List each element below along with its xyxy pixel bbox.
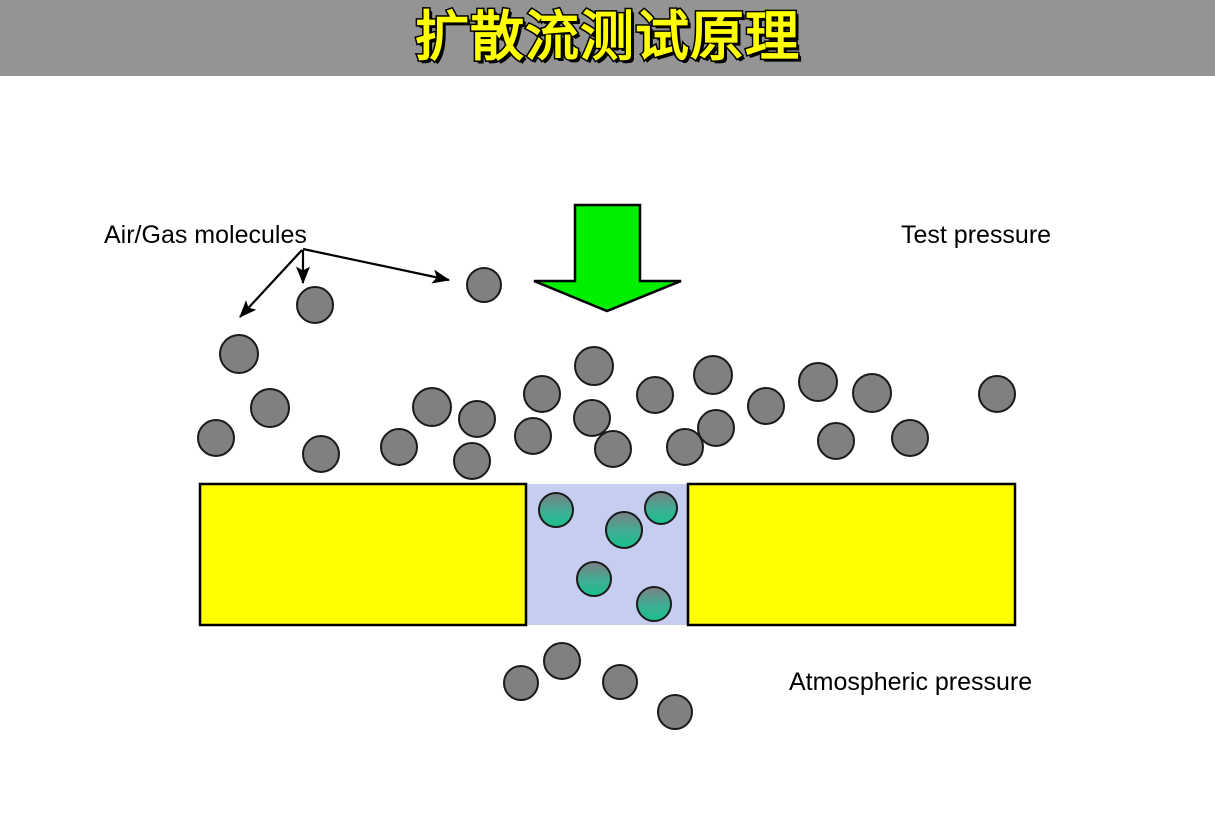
pointer-arrow-group — [240, 249, 449, 317]
diagram-canvas — [0, 0, 1215, 835]
gas-molecule — [251, 389, 289, 427]
left-membrane-block — [200, 484, 526, 625]
pointer-arrow-left — [240, 250, 302, 317]
gas-molecule — [603, 665, 637, 699]
gas-molecule — [459, 401, 495, 437]
molecules-below-membrane — [504, 643, 692, 729]
gas-molecule — [303, 436, 339, 472]
pore-molecule — [539, 493, 573, 527]
slide-root: 扩散流测试原理 — [0, 0, 1215, 835]
gas-molecule — [892, 420, 928, 456]
pore-molecule — [645, 492, 677, 524]
gas-molecule — [799, 363, 837, 401]
gas-molecule — [694, 356, 732, 394]
gas-molecule — [667, 429, 703, 465]
gas-molecule — [504, 666, 538, 700]
gas-molecule — [544, 643, 580, 679]
gas-molecule — [515, 418, 551, 454]
label-air-gas-molecules: Air/Gas molecules — [104, 221, 307, 250]
test-pressure-arrow — [534, 205, 681, 311]
gas-molecule — [524, 376, 560, 412]
label-test-pressure: Test pressure — [901, 221, 1051, 250]
label-atmospheric-pressure: Atmospheric pressure — [789, 668, 1032, 697]
gas-molecule — [979, 376, 1015, 412]
pore-molecule — [606, 512, 642, 548]
gas-molecule — [381, 429, 417, 465]
pore-molecule — [577, 562, 611, 596]
pore-molecule — [637, 587, 671, 621]
gas-molecule — [748, 388, 784, 424]
gas-molecule — [220, 335, 258, 373]
gas-molecule — [454, 443, 490, 479]
gas-molecule — [818, 423, 854, 459]
right-membrane-block — [688, 484, 1015, 625]
gas-molecule — [637, 377, 673, 413]
gas-molecule — [413, 388, 451, 426]
gas-molecule — [853, 374, 891, 412]
gas-molecule — [658, 695, 692, 729]
pointer-arrow-right — [303, 249, 449, 280]
gas-molecule — [467, 268, 501, 302]
gas-molecule — [595, 431, 631, 467]
gas-molecule — [198, 420, 234, 456]
gas-molecule — [574, 400, 610, 436]
gas-molecule — [698, 410, 734, 446]
gas-molecule — [297, 287, 333, 323]
gas-molecule — [575, 347, 613, 385]
